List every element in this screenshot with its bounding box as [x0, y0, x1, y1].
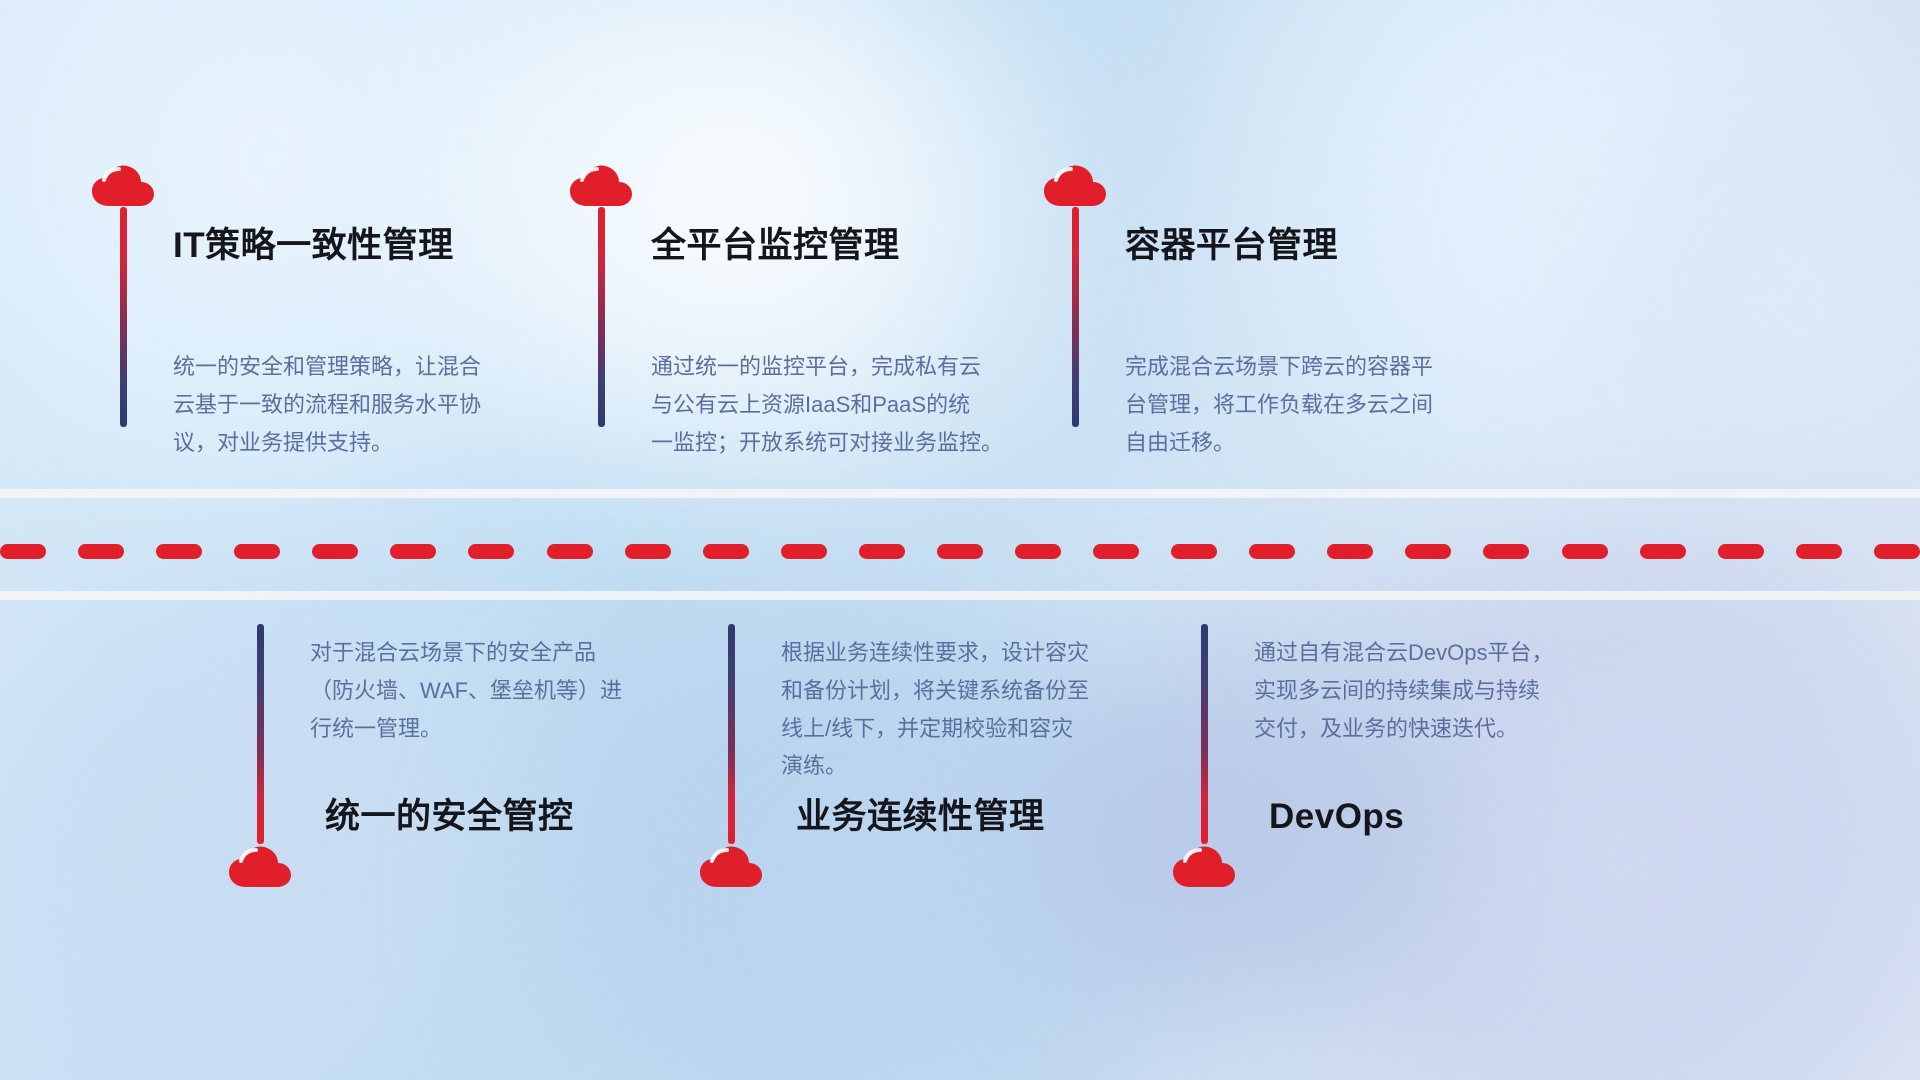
feature-body: 通过自有混合云DevOps平台， 实现多云间的持续集成与持续 交付，及业务的快速… [1254, 634, 1644, 747]
connector-line [120, 207, 127, 427]
road-dash-segment [859, 544, 905, 559]
feature-heading: 容器平台管理 [1125, 228, 1338, 263]
road-dash-segment [1483, 544, 1529, 559]
connector-line [598, 207, 605, 427]
road-dash-segment [781, 544, 827, 559]
cloud-icon [91, 163, 155, 207]
road-dash-segment [468, 544, 514, 559]
feature-column-devops[interactable]: 通过自有混合云DevOps平台， 实现多云间的持续集成与持续 交付，及业务的快速… [1201, 624, 1236, 888]
road-dash-segment [1874, 544, 1920, 559]
feature-body: 统一的安全和管理策略，让混合 云基于一致的流程和服务水平协 议，对业务提供支持。 [173, 348, 553, 461]
cloud-icon [1172, 844, 1236, 888]
feature-body: 通过统一的监控平台，完成私有云 与公有云上资源IaaS和PaaS的统 一监控；开… [651, 348, 1051, 461]
feature-column-unified-security[interactable]: 对于混合云场景下的安全产品 （防火墙、WAF、堡垒机等）进 行统一管理。 统一的… [257, 624, 292, 888]
feature-heading: DevOps [1269, 799, 1404, 834]
connector-line [728, 624, 735, 844]
road-dash-segment [0, 544, 46, 559]
road-dashed-centerline [0, 544, 1920, 559]
feature-body: 完成混合云场景下跨云的容器平 台管理，将工作负载在多云之间 自由迁移。 [1125, 348, 1515, 461]
feature-column-it-policy[interactable]: IT策略一致性管理 统一的安全和管理策略，让混合 云基于一致的流程和服务水平协 … [120, 163, 155, 427]
road-dash-segment [547, 544, 593, 559]
road-dash-segment [156, 544, 202, 559]
road-dash-segment [1718, 544, 1764, 559]
road-dash-segment [78, 544, 124, 559]
connector-line [257, 624, 264, 844]
connector-line [1201, 624, 1208, 844]
feature-heading: 全平台监控管理 [651, 228, 900, 263]
road-dash-segment [1327, 544, 1373, 559]
road-dash-segment [625, 544, 671, 559]
road-dash-segment [390, 544, 436, 559]
feature-heading: 统一的安全管控 [325, 799, 574, 834]
feature-body: 根据业务连续性要求，设计容灾 和备份计划，将关键系统备份至 线上/线下，并定期校… [781, 634, 1181, 785]
feature-column-business-continuity[interactable]: 根据业务连续性要求，设计容灾 和备份计划，将关键系统备份至 线上/线下，并定期校… [728, 624, 763, 888]
road-dash-segment [1171, 544, 1217, 559]
road-dash-segment [1640, 544, 1686, 559]
road-edge-line-top [0, 489, 1920, 498]
road-dash-segment [1796, 544, 1842, 559]
road-edge-line-bottom [0, 591, 1920, 600]
road-dash-segment [1405, 544, 1451, 559]
feature-body: 对于混合云场景下的安全产品 （防火墙、WAF、堡垒机等）进 行统一管理。 [310, 634, 700, 747]
cloud-icon [699, 844, 763, 888]
feature-column-platform-monitoring[interactable]: 全平台监控管理 通过统一的监控平台，完成私有云 与公有云上资源IaaS和PaaS… [598, 163, 633, 427]
road-dash-segment [312, 544, 358, 559]
road-dash-segment [1015, 544, 1061, 559]
cloud-icon [1043, 163, 1107, 207]
road-dash-segment [1093, 544, 1139, 559]
road-dash-segment [234, 544, 280, 559]
road-dash-segment [1249, 544, 1295, 559]
feature-heading: 业务连续性管理 [796, 799, 1045, 834]
background [0, 0, 1920, 1080]
connector-line [1072, 207, 1079, 427]
feature-column-container-platform[interactable]: 容器平台管理 完成混合云场景下跨云的容器平 台管理，将工作负载在多云之间 自由迁… [1072, 163, 1107, 427]
feature-heading: IT策略一致性管理 [173, 228, 454, 263]
cloud-icon [569, 163, 633, 207]
road-dash-segment [703, 544, 749, 559]
road-dash-segment [1562, 544, 1608, 559]
cloud-icon [228, 844, 292, 888]
road-dash-segment [937, 544, 983, 559]
